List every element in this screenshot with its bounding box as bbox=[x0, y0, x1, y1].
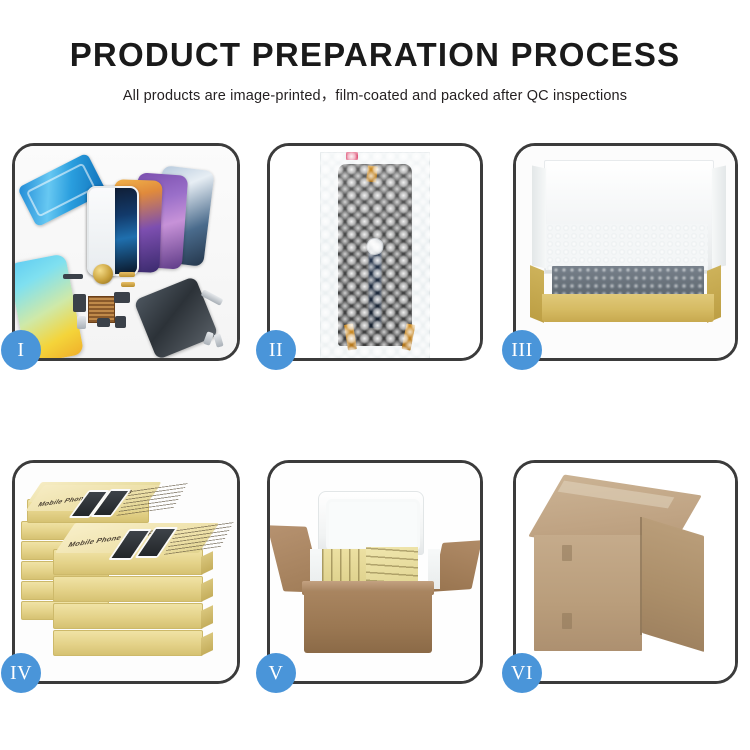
sealed-carton-photo bbox=[516, 463, 735, 681]
step-badge-5: V bbox=[256, 653, 296, 693]
tape-strip-top bbox=[366, 166, 378, 183]
step-badge-6: VI bbox=[502, 653, 542, 693]
step-badge-3: III bbox=[502, 330, 542, 370]
connector-icon bbox=[367, 238, 384, 255]
process-step-panel-6: VI bbox=[513, 460, 738, 684]
retail-box-stack: Mobile Phone Spare Parts Mobile Phone Sp… bbox=[21, 479, 231, 679]
carton-seam-upper bbox=[562, 545, 572, 561]
phone-display-5 bbox=[87, 186, 115, 276]
carton-front bbox=[304, 591, 432, 653]
carton-front-face bbox=[534, 535, 642, 651]
step-badge-2: II bbox=[256, 330, 296, 370]
pink-qc-label bbox=[346, 152, 358, 160]
carton-vertical-edge bbox=[640, 517, 642, 635]
retail-box-top-face-front: Mobile Phone Spare Parts bbox=[55, 523, 219, 553]
process-step-panel-4: Mobile Phone Spare Parts Mobile Phone Sp… bbox=[12, 460, 240, 684]
vibration-motor-icon bbox=[93, 264, 113, 284]
retail-box-top-face-back: Mobile Phone Spare Parts bbox=[26, 485, 161, 511]
process-step-panel-5: V bbox=[267, 460, 483, 684]
box-tray-front bbox=[542, 294, 714, 322]
process-step-panel-1: I bbox=[12, 143, 240, 361]
process-step-panel-2: II bbox=[267, 143, 483, 361]
process-step-grid: I II III bbox=[0, 0, 750, 750]
step-badge-4: IV bbox=[1, 653, 41, 693]
bubble-wrap-packing-photo bbox=[270, 146, 480, 358]
retail-box-stacking-photo: Mobile Phone Spare Parts Mobile Phone Sp… bbox=[15, 463, 237, 681]
carton-side-face bbox=[642, 517, 704, 652]
carton-seam-lower bbox=[562, 613, 572, 629]
foam-sheet bbox=[546, 224, 708, 270]
foam-liner-inner bbox=[326, 499, 420, 551]
foam-box-packing-photo bbox=[516, 146, 735, 358]
process-step-panel-3: III bbox=[513, 143, 738, 361]
product-assortment-photo bbox=[15, 146, 237, 358]
bubble-wrapped-contents bbox=[552, 266, 704, 296]
step-badge-1: I bbox=[1, 330, 41, 370]
carton-loading-photo bbox=[270, 463, 480, 681]
